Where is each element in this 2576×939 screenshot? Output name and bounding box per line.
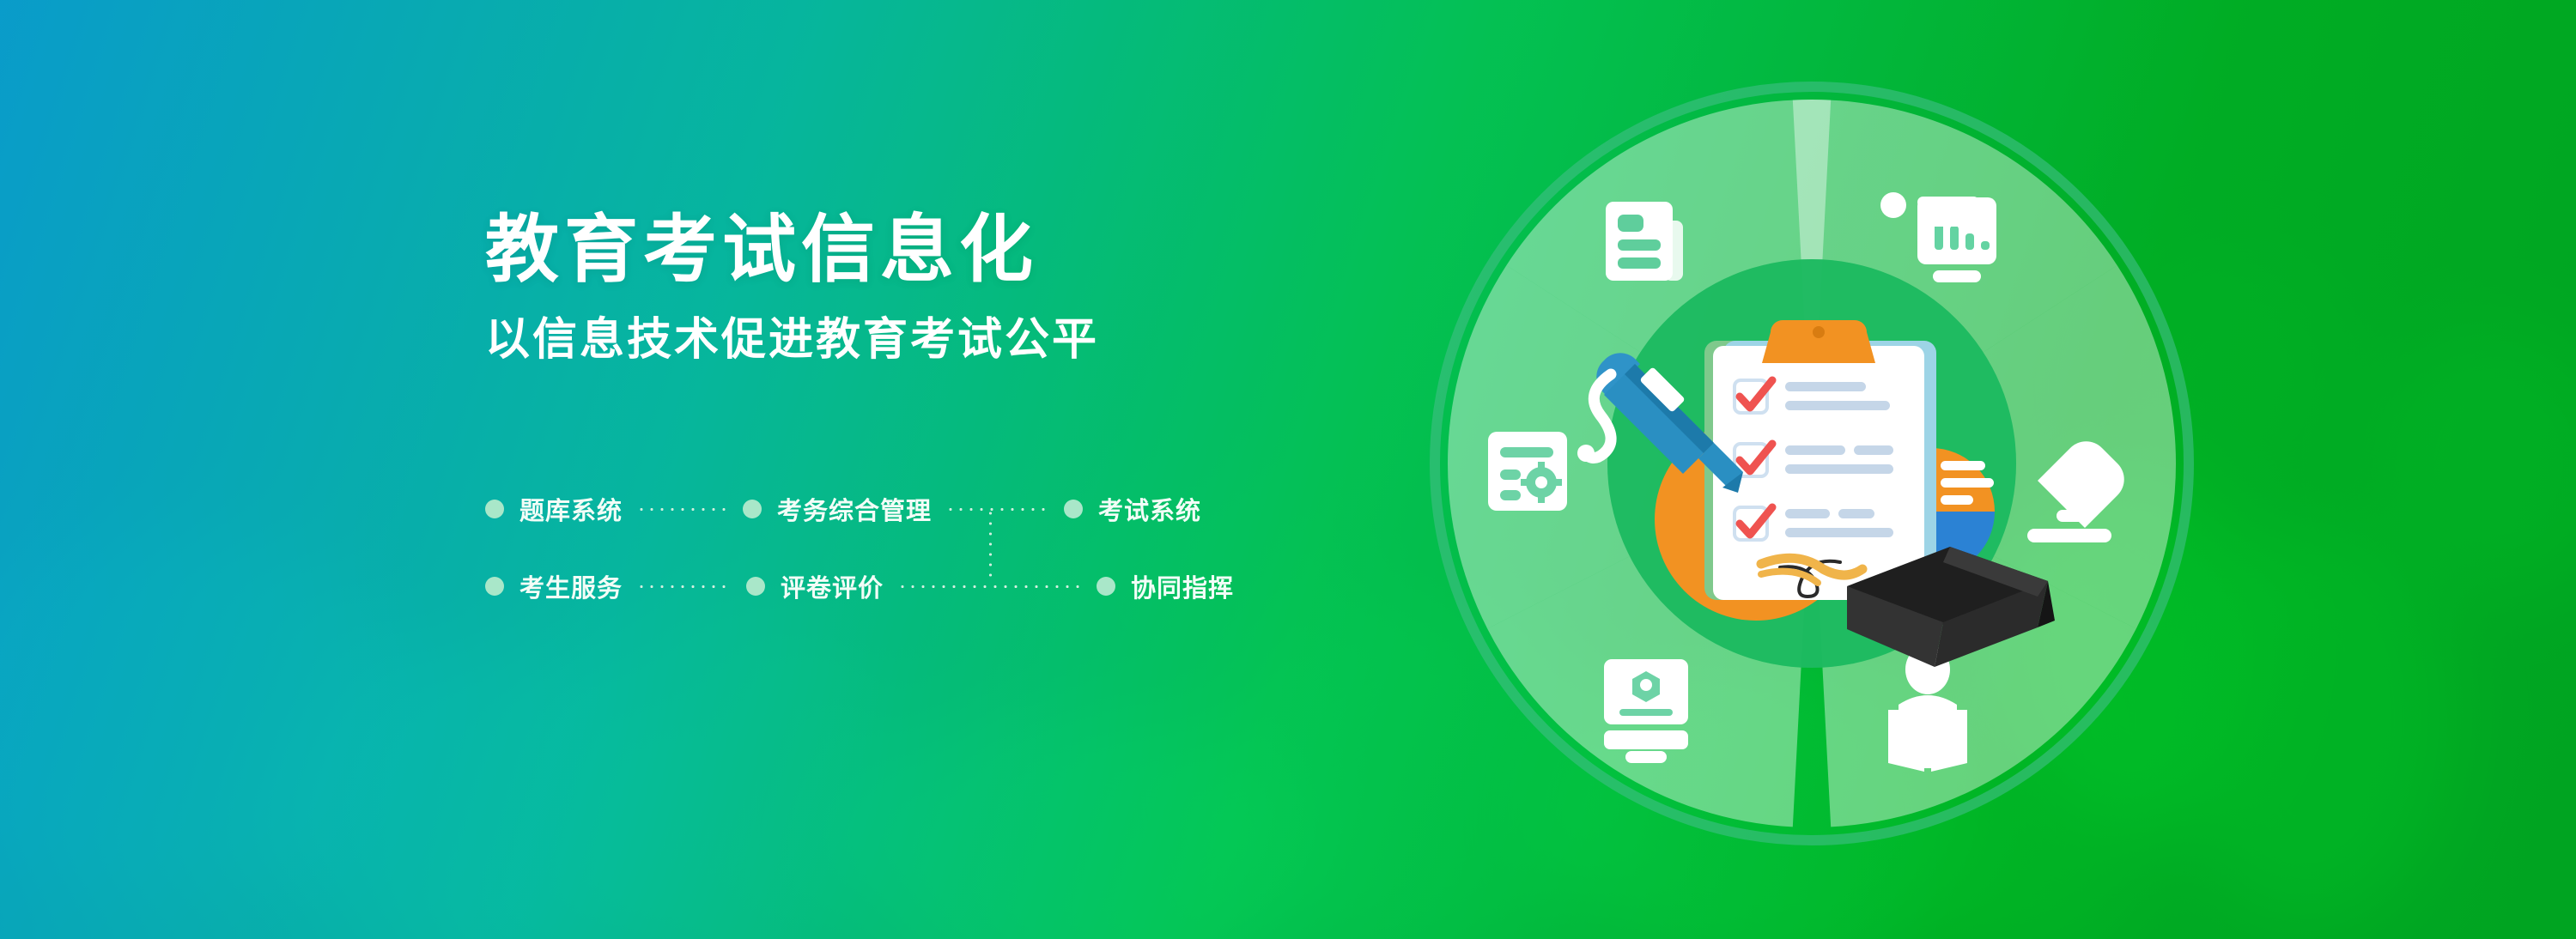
feature-list: 题库系统 考务综合管理 考试系统 考生服务 评卷评价 bbox=[485, 489, 1189, 606]
dotted-connector bbox=[636, 508, 729, 511]
bullet-dot-icon bbox=[1064, 500, 1083, 518]
bullet-dot-icon bbox=[485, 500, 504, 518]
vertical-dotted-connector bbox=[989, 508, 992, 582]
feature-item-exam-affairs[interactable]: 考务综合管理 bbox=[743, 491, 932, 527]
feature-label: 评卷评价 bbox=[781, 568, 884, 604]
feature-item-collaborative-command[interactable]: 协同指挥 bbox=[1097, 568, 1234, 604]
feature-label: 协同指挥 bbox=[1131, 568, 1234, 604]
dotted-connector bbox=[945, 508, 1050, 511]
hero-banner: 教育考试信息化 以信息技术促进教育考试公平 题库系统 考务综合管理 考试系统 bbox=[0, 0, 2576, 939]
exam-information-wheel bbox=[1421, 73, 2202, 854]
dotted-connector bbox=[636, 585, 732, 588]
feature-row: 考生服务 评卷评价 协同指挥 bbox=[485, 566, 1189, 606]
feature-label: 考务综合管理 bbox=[777, 491, 932, 527]
dotted-connector bbox=[897, 585, 1083, 588]
feature-label: 考生服务 bbox=[519, 568, 623, 604]
page-title: 教育考试信息化 bbox=[485, 213, 1099, 287]
bullet-dot-icon bbox=[743, 500, 762, 518]
bullet-dot-icon bbox=[1097, 577, 1115, 596]
monitor-location-icon bbox=[1604, 659, 1688, 763]
feature-label: 考试系统 bbox=[1098, 491, 1201, 527]
bullet-dot-icon bbox=[485, 577, 504, 596]
feature-item-exam-system[interactable]: 考试系统 bbox=[1064, 491, 1201, 527]
page-subtitle: 以信息技术促进教育考试公平 bbox=[485, 318, 1099, 362]
feature-item-candidate-service[interactable]: 考生服务 bbox=[485, 568, 623, 604]
headline-block: 教育考试信息化 以信息技术促进教育考试公平 bbox=[485, 213, 1099, 362]
feature-item-marking-evaluation[interactable]: 评卷评价 bbox=[746, 568, 884, 604]
news-document-icon bbox=[1606, 202, 1683, 281]
feature-label: 题库系统 bbox=[519, 491, 623, 527]
settings-document-icon bbox=[1488, 432, 1567, 511]
bullet-dot-icon bbox=[746, 577, 765, 596]
feature-item-question-bank[interactable]: 题库系统 bbox=[485, 491, 623, 527]
feature-row: 题库系统 考务综合管理 考试系统 bbox=[485, 489, 1189, 529]
